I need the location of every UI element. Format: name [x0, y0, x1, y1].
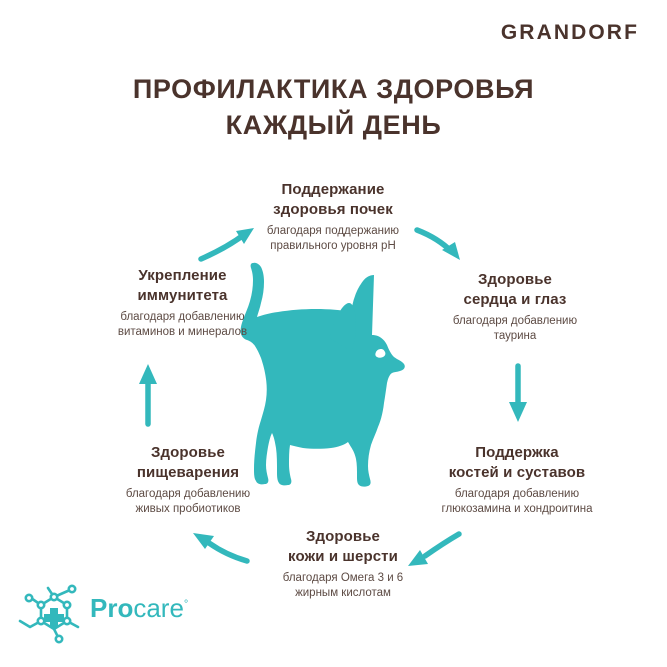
fact-digestion-heading-line-1: Здоровье [151, 444, 225, 461]
fact-digestion-subtext: благодаря добавлению живых пробиотиков [68, 487, 308, 518]
infographic-canvas: GRANDORF ПРОФИЛАКТИКА ЗДОРОВЬЯ КАЖДЫЙ ДЕ… [0, 0, 667, 667]
fact-bone-joint-support: Поддержка костей и суставов благодаря до… [392, 443, 642, 518]
fact-digestion-heading-line-2: пищеварения [137, 464, 239, 481]
fact-skin-coat-health: Здоровье кожи и шерсти благодаря Омега 3… [228, 527, 458, 602]
fact-digestion-subtext-line-1: благодаря добавлению [126, 488, 250, 500]
fact-heart-heading: Здоровье сердца и глаз [395, 270, 635, 310]
fact-immunity-subtext: благодаря добавлению витаминов и минерал… [65, 310, 300, 341]
arrow-digestion-to-immunity [139, 364, 157, 424]
procare-logo: Procare° [18, 583, 198, 645]
fact-kidney-heading-line-1: Поддержание [282, 181, 385, 198]
fact-kidney-subtext-line-1: благодаря поддержанию [267, 225, 399, 237]
fact-skin-subtext: благодаря Омега 3 и 6 жирным кислотам [228, 571, 458, 602]
fact-joints-subtext-line-1: благодаря добавлению [455, 488, 579, 500]
fact-joints-subtext-line-2: глюкозамина и хондроитина [442, 503, 593, 515]
fact-heart-eye-health: Здоровье сердца и глаз благодаря добавле… [395, 270, 635, 345]
fact-kidney-subtext: благодаря поддержанию правильного уровня… [213, 224, 453, 255]
fact-immunity-heading-line-1: Укрепление [138, 267, 226, 284]
fact-heart-subtext-line-1: благодаря добавлению [453, 315, 577, 327]
procare-degree-mark: ° [184, 598, 188, 610]
fact-digestion-subtext-line-2: живых пробиотиков [136, 503, 241, 515]
fact-immunity-subtext-line-2: витаминов и минералов [118, 326, 247, 338]
fact-skin-heading-line-1: Здоровье [306, 528, 380, 545]
fact-immunity-heading: Укрепление иммунитета [65, 266, 300, 306]
fact-heart-heading-line-1: Здоровье [478, 271, 552, 288]
fact-immunity-support: Укрепление иммунитета благодаря добавлен… [65, 266, 300, 341]
fact-skin-subtext-line-1: благодаря Омега 3 и 6 [283, 572, 403, 584]
fact-immunity-subtext-line-1: благодаря добавлению [120, 311, 244, 323]
page-title: ПРОФИЛАКТИКА ЗДОРОВЬЯ КАЖДЫЙ ДЕНЬ [0, 72, 667, 144]
fact-digestive-health: Здоровье пищеварения благодаря добавлени… [68, 443, 308, 518]
page-title-line-1: ПРОФИЛАКТИКА ЗДОРОВЬЯ [0, 72, 667, 108]
fact-kidney-subtext-line-2: правильного уровня pH [270, 240, 396, 252]
brand-wordmark: GRANDORF [501, 22, 639, 43]
fact-joints-heading-line-2: костей и суставов [449, 464, 586, 481]
fact-skin-heading-line-2: кожи и шерсти [288, 548, 398, 565]
fact-joints-heading-line-1: Поддержка [475, 444, 558, 461]
fact-joints-heading: Поддержка костей и суставов [392, 443, 642, 483]
fact-kidney-heading-line-2: здоровья почек [273, 201, 393, 218]
page-title-line-2: КАЖДЫЙ ДЕНЬ [0, 108, 667, 144]
procare-wordmark: Procare° [90, 595, 188, 621]
arrow-heart-to-joints [509, 366, 527, 422]
fact-joints-subtext: благодаря добавлению глюкозамина и хондр… [392, 487, 642, 518]
fact-skin-heading: Здоровье кожи и шерсти [228, 527, 458, 567]
fact-heart-subtext-line-2: таурина [494, 330, 537, 342]
fact-digestion-heading: Здоровье пищеварения [68, 443, 308, 483]
molecule-cross-icon [18, 583, 90, 645]
fact-heart-heading-line-2: сердца и глаз [464, 291, 567, 308]
fact-heart-subtext: благодаря добавлению таурина [395, 314, 635, 345]
fact-kidney-health: Поддержание здоровья почек благодаря под… [213, 180, 453, 255]
fact-skin-subtext-line-2: жирным кислотам [295, 587, 391, 599]
fact-kidney-heading: Поддержание здоровья почек [213, 180, 453, 220]
procare-word-pro: Pro [90, 593, 133, 623]
fact-immunity-heading-line-2: иммунитета [137, 287, 227, 304]
procare-word-care: care [133, 593, 184, 623]
